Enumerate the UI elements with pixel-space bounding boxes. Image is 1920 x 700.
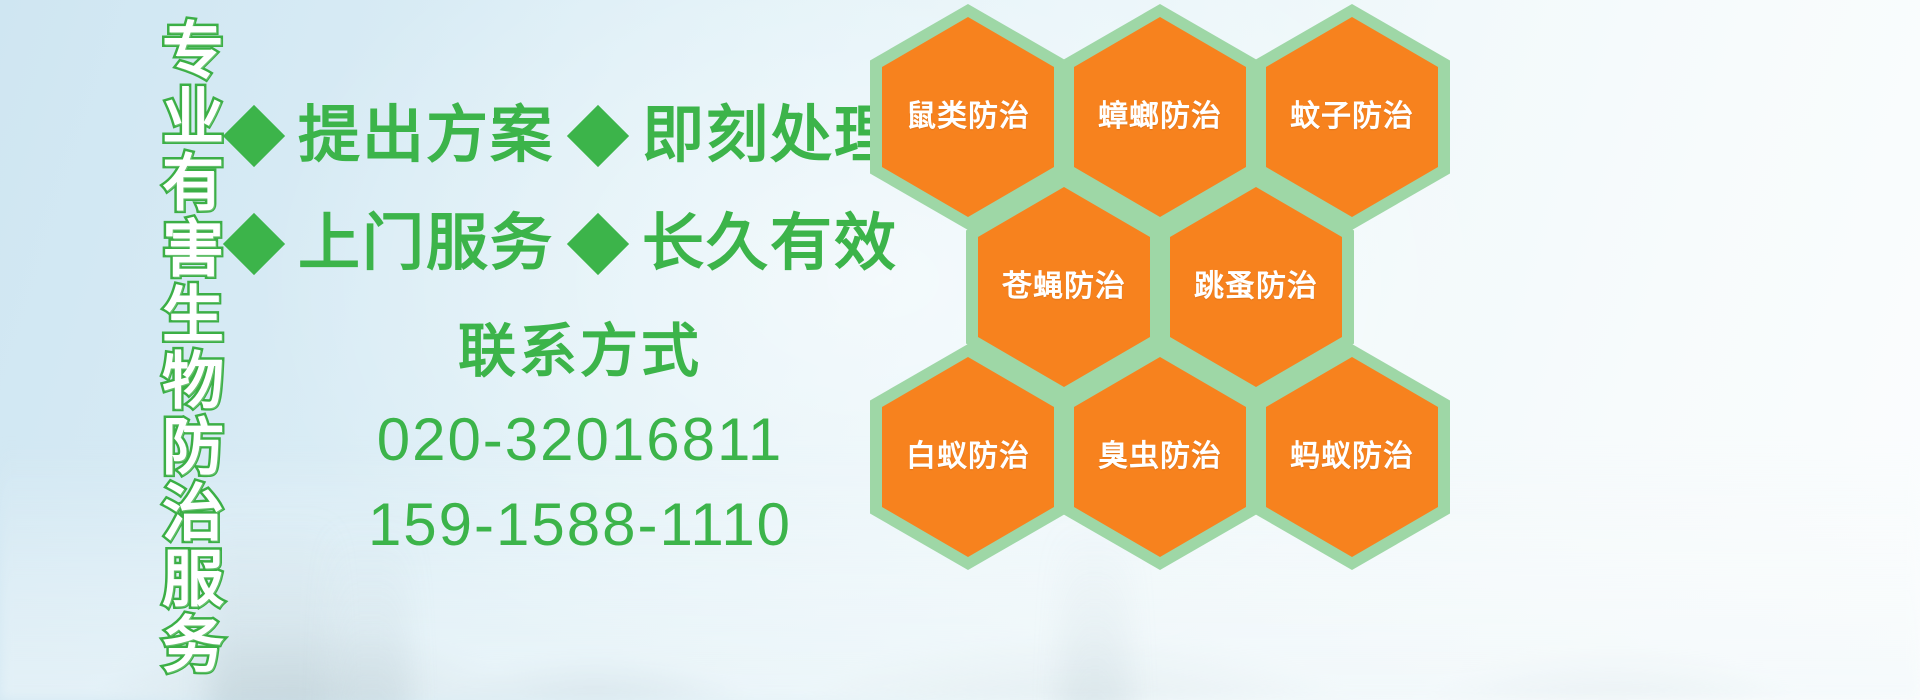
service-label: 臭虫防治 [1098, 442, 1222, 472]
diamond-icon [567, 105, 629, 167]
vertical-headline: 专业有害生物防治服务 [108, 18, 218, 578]
diamond-icon [223, 213, 285, 275]
hexagon-fill: 白蚁防治 [882, 357, 1054, 557]
hexagon-fill: 臭虫防治 [1074, 357, 1246, 557]
hexagon-fill: 蚊子防治 [1266, 17, 1438, 217]
feature-label: 长久有效 [642, 213, 898, 275]
service-label: 苍蝇防治 [1002, 272, 1126, 302]
service-label: 白蚁防治 [906, 442, 1030, 472]
pest-control-banner: 专业有害生物防治服务 提出方案 即刻处理 上门服务 长久有效 联系方式 [0, 0, 1920, 700]
feature-row: 上门服务 长久有效 [232, 190, 872, 298]
service-label: 鼠类防治 [906, 102, 1030, 132]
phone-number-landline[interactable]: 020-32016811 [300, 397, 860, 482]
feature-item: 长久有效 [576, 213, 898, 275]
feature-list: 提出方案 即刻处理 上门服务 长久有效 [232, 82, 872, 298]
service-label: 蚂蚁防治 [1290, 442, 1414, 472]
hexagon-fill: 鼠类防治 [882, 17, 1054, 217]
service-label: 跳蚤防治 [1194, 272, 1318, 302]
feature-label: 即刻处理 [642, 105, 898, 167]
diamond-icon [567, 213, 629, 275]
hexagon-fill: 蟑螂防治 [1074, 17, 1246, 217]
diamond-icon [223, 105, 285, 167]
contact-block: 联系方式 020-32016811 159-1588-1110 [300, 316, 860, 567]
feature-label: 上门服务 [298, 213, 554, 275]
service-label: 蚊子防治 [1290, 102, 1414, 132]
hexagon-fill: 跳蚤防治 [1170, 187, 1342, 387]
feature-label: 提出方案 [298, 105, 554, 167]
feature-row: 提出方案 即刻处理 [232, 82, 872, 190]
contact-title: 联系方式 [300, 316, 860, 389]
feature-item: 即刻处理 [576, 105, 898, 167]
service-label: 蟑螂防治 [1098, 102, 1222, 132]
feature-item: 上门服务 [232, 213, 554, 275]
feature-item: 提出方案 [232, 105, 554, 167]
service-honeycomb: 鼠类防治 蟑螂防治 蚊子防治 苍蝇防治 跳蚤防治 白蚁防治 [862, 0, 1462, 598]
hexagon-fill: 苍蝇防治 [978, 187, 1150, 387]
hexagon-fill: 蚂蚁防治 [1266, 357, 1438, 557]
phone-number-mobile[interactable]: 159-1588-1110 [300, 482, 860, 567]
